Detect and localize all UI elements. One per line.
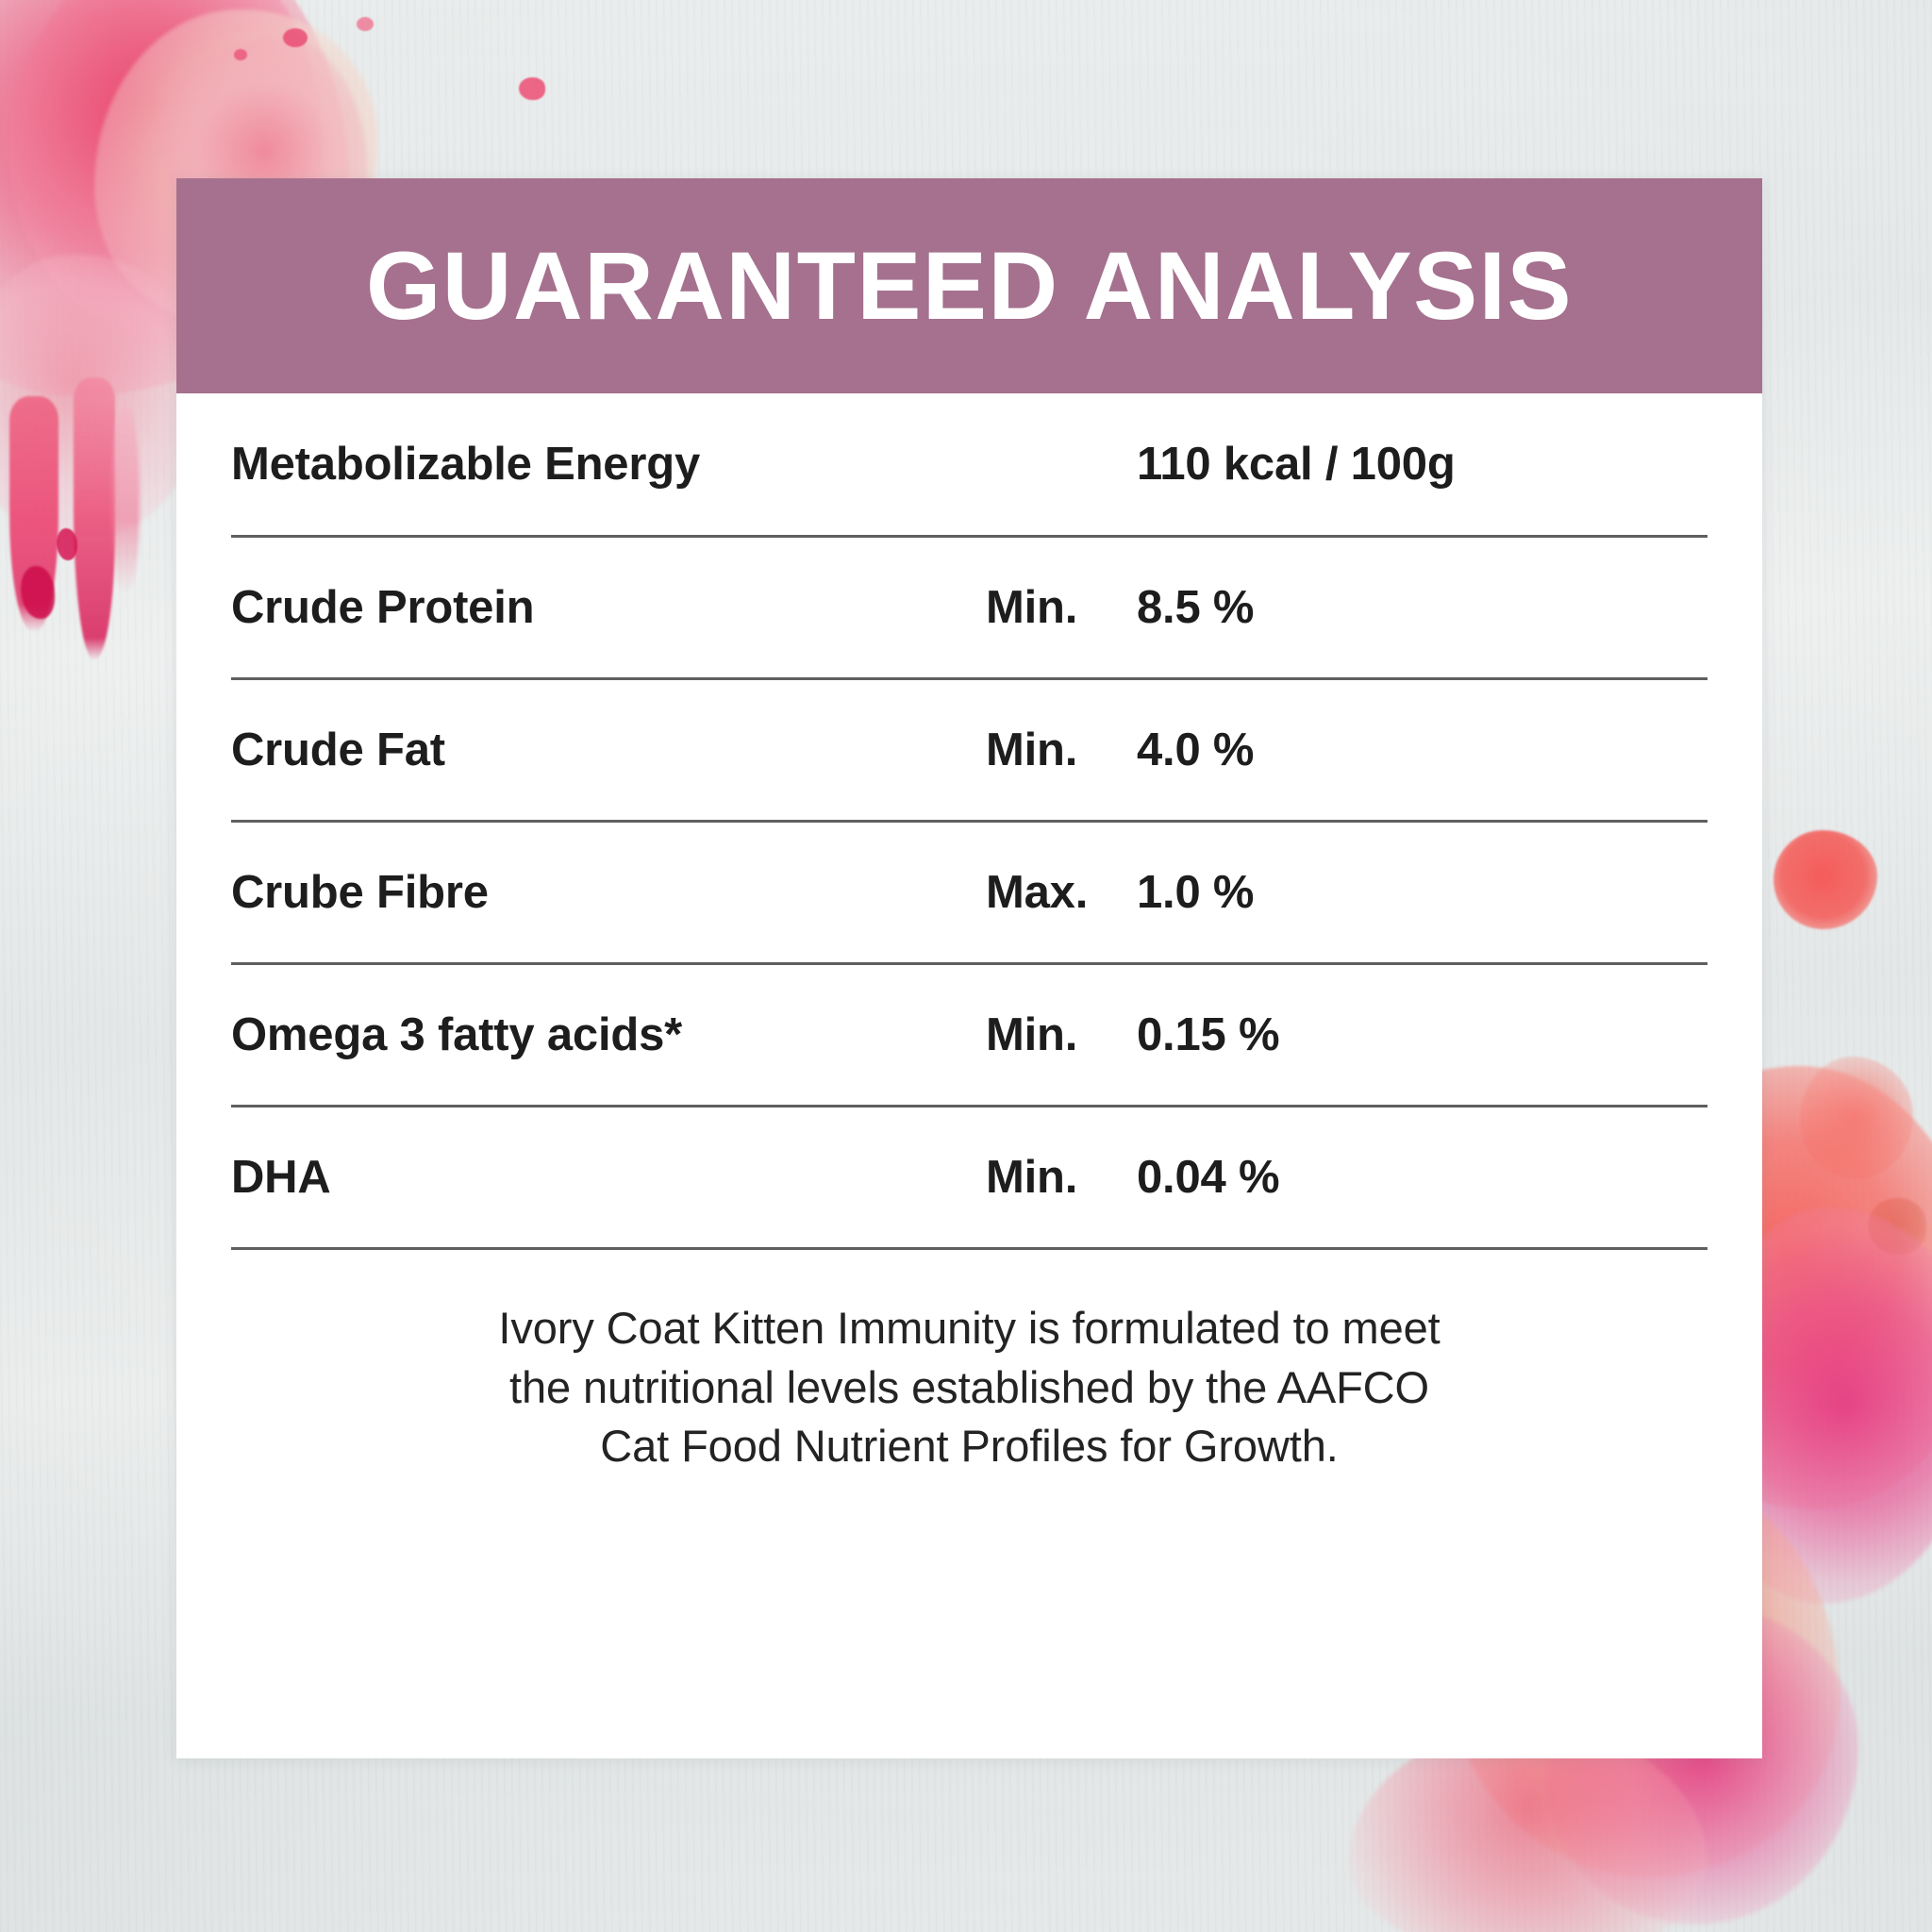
table-row: Crube Fibre Max. 1.0 % bbox=[231, 823, 1707, 965]
table-row: Crude Fat Min. 4.0 % bbox=[231, 680, 1707, 823]
nutrient-value: 4.0 % bbox=[1137, 724, 1707, 776]
aafco-statement-line-3: Cat Food Nutrient Profiles for Growth. bbox=[258, 1417, 1681, 1476]
poster-canvas: GUARANTEED ANALYSIS Metabolizable Energy… bbox=[0, 0, 1932, 1932]
nutrient-value: 1.0 % bbox=[1137, 866, 1707, 919]
nutrient-qualifier: Min. bbox=[986, 581, 1137, 634]
nutrient-name: Crude Fat bbox=[231, 724, 986, 776]
page-title: GUARANTEED ANALYSIS bbox=[366, 238, 1573, 334]
nutrient-value: 0.15 % bbox=[1137, 1008, 1707, 1061]
nutrient-name: DHA bbox=[231, 1151, 986, 1204]
nutrient-value: 8.5 % bbox=[1137, 581, 1707, 634]
card-header-bar: GUARANTEED ANALYSIS bbox=[176, 178, 1762, 393]
nutrient-name: Crude Protein bbox=[231, 581, 986, 634]
nutrition-table: Metabolizable Energy 110 kcal / 100g Cru… bbox=[176, 393, 1762, 1250]
nutrient-qualifier: Max. bbox=[986, 866, 1137, 919]
nutrient-qualifier: Min. bbox=[986, 1008, 1137, 1061]
aafco-statement-line-2: the nutritional levels established by th… bbox=[258, 1358, 1681, 1418]
nutrient-name: Omega 3 fatty acids* bbox=[231, 1008, 986, 1061]
nutrient-value: 0.04 % bbox=[1137, 1151, 1707, 1204]
nutrient-qualifier: Min. bbox=[986, 1151, 1137, 1204]
nutrient-value: 110 kcal / 100g bbox=[1137, 438, 1707, 491]
nutrient-name: Crube Fibre bbox=[231, 866, 986, 919]
aafco-statement-line-1: Ivory Coat Kitten Immunity is formulated… bbox=[258, 1299, 1681, 1358]
table-row: Metabolizable Energy 110 kcal / 100g bbox=[231, 393, 1707, 538]
guaranteed-analysis-card: GUARANTEED ANALYSIS Metabolizable Energy… bbox=[176, 178, 1762, 1758]
table-row: DHA Min. 0.04 % bbox=[231, 1108, 1707, 1250]
table-row: Omega 3 fatty acids* Min. 0.15 % bbox=[231, 965, 1707, 1108]
aafco-statement: Ivory Coat Kitten Immunity is formulated… bbox=[176, 1250, 1762, 1476]
table-row: Crude Protein Min. 8.5 % bbox=[231, 538, 1707, 680]
nutrient-name: Metabolizable Energy bbox=[231, 438, 986, 491]
nutrient-qualifier: Min. bbox=[986, 724, 1137, 776]
